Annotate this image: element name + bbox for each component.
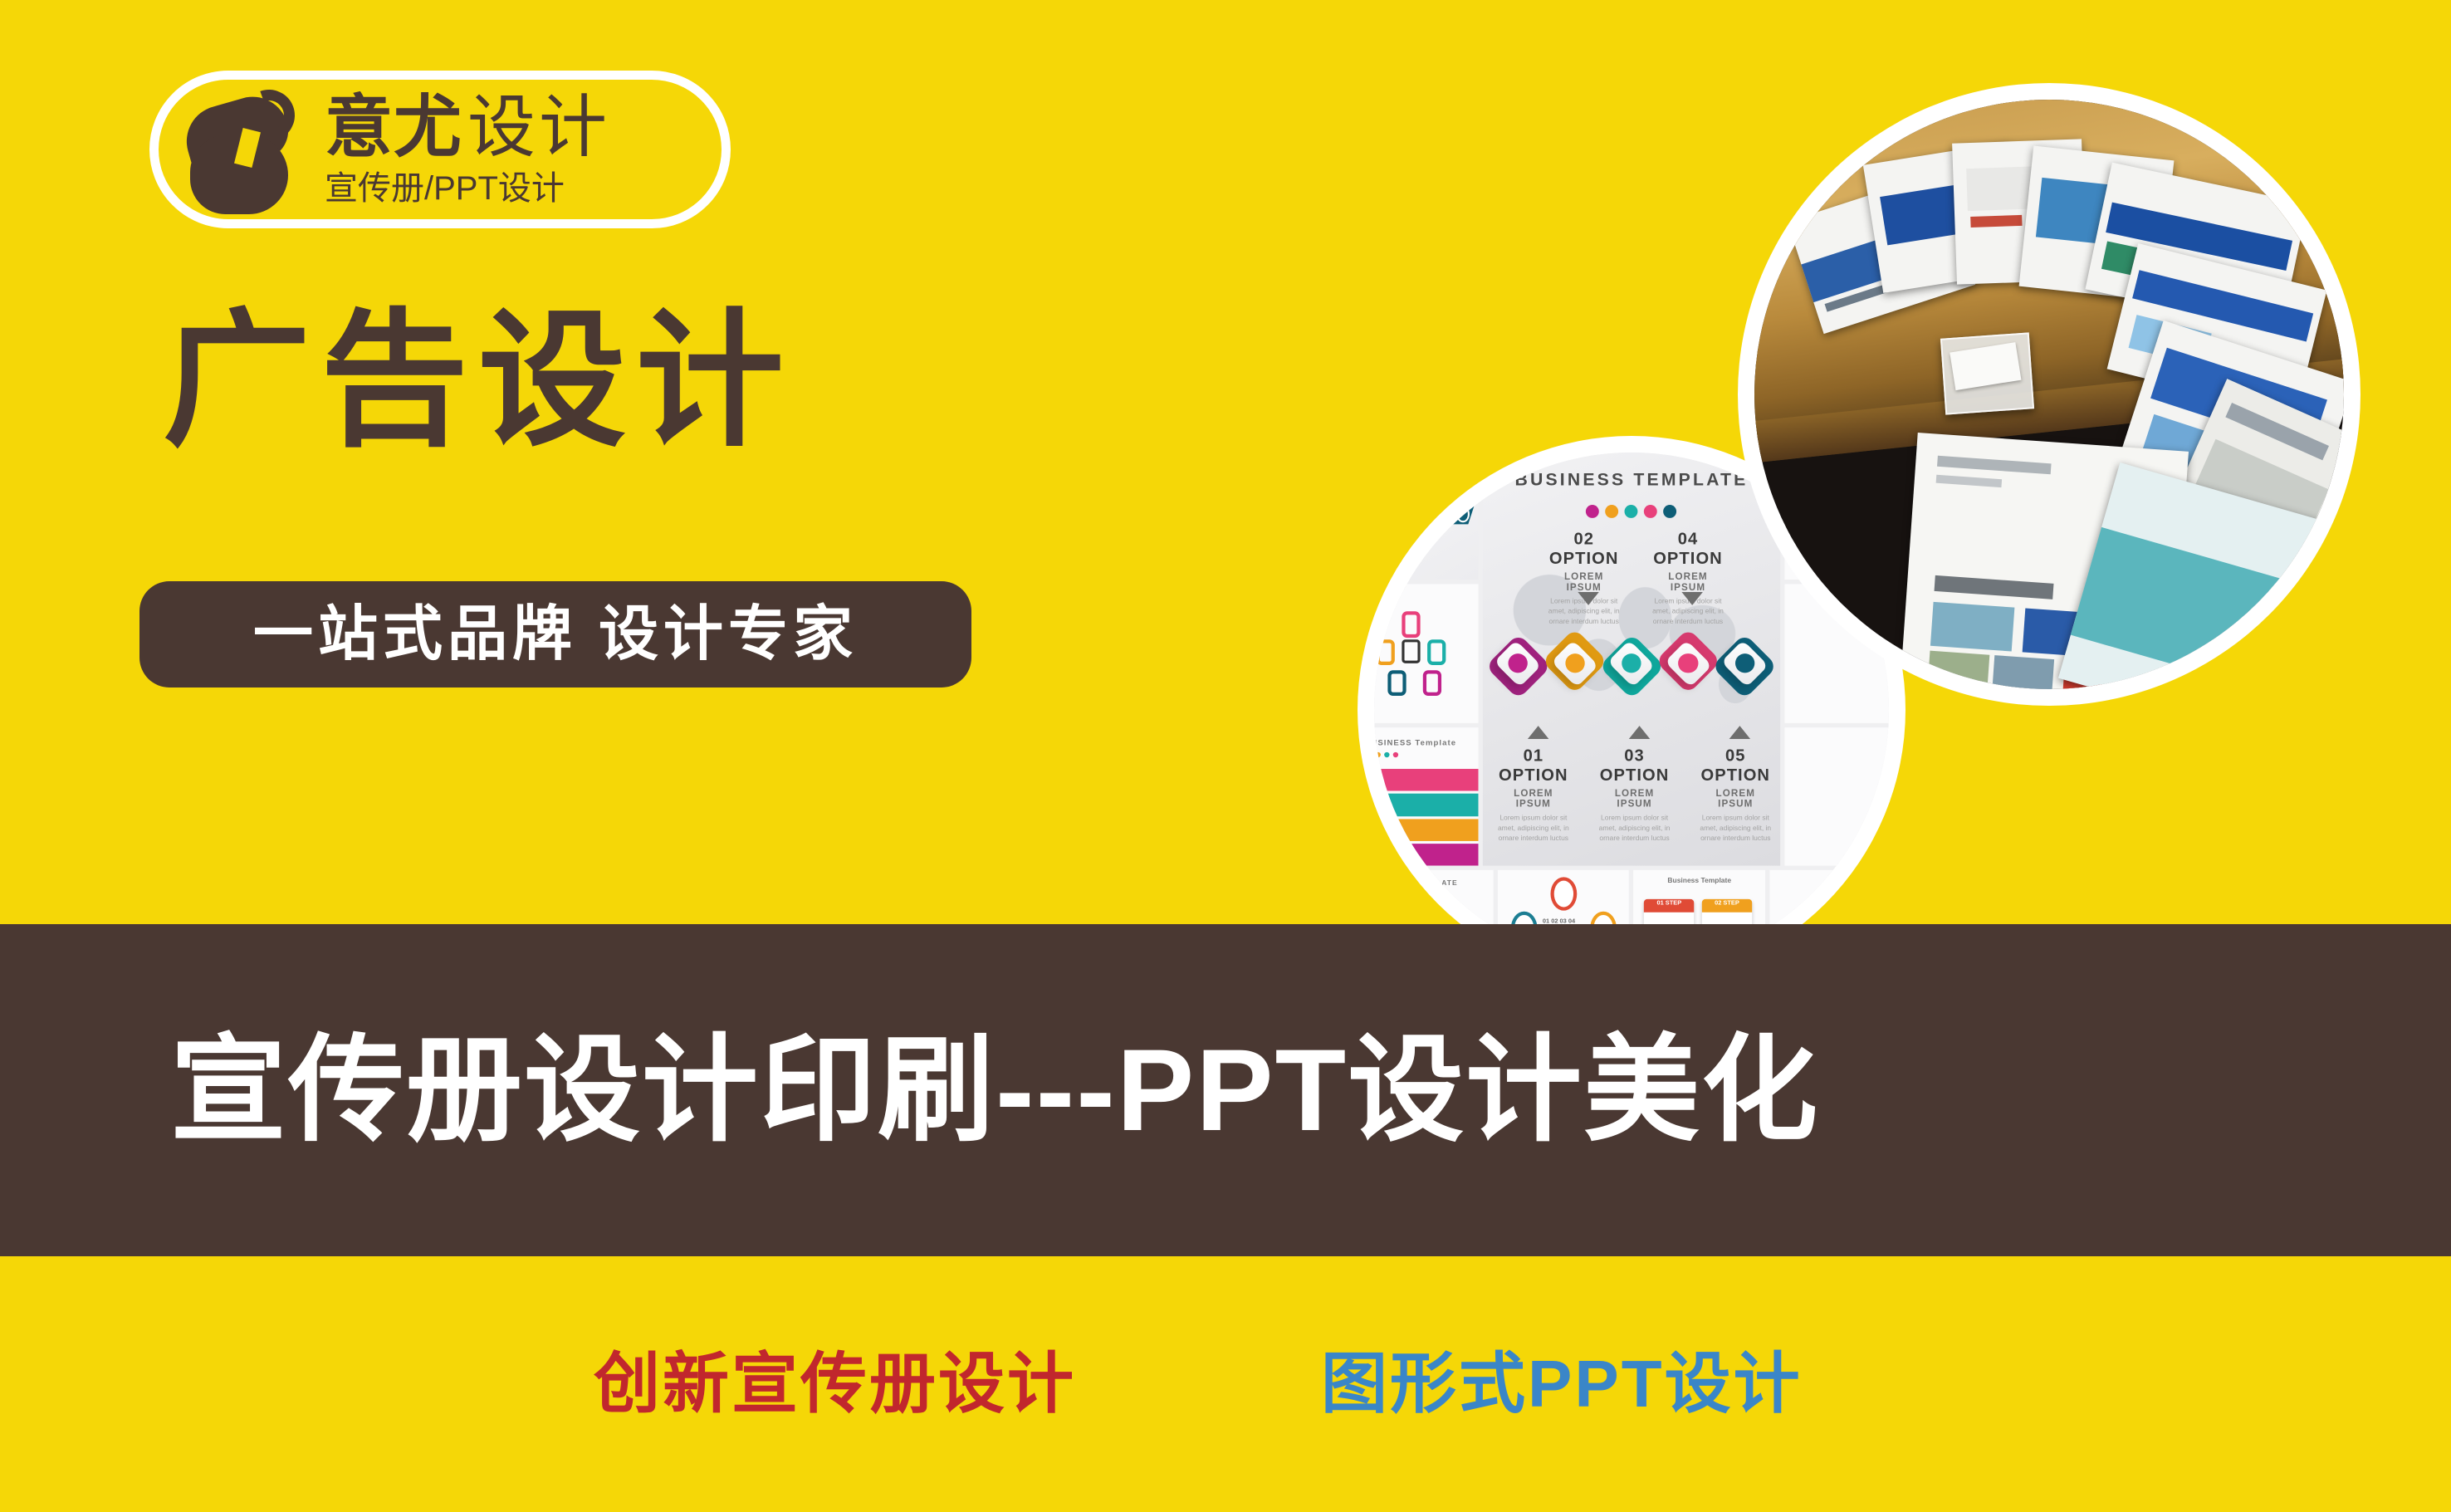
tpl-heading: BUSINESS TEMPLATE <box>1483 470 1780 490</box>
tpl-option-label: 05 OPTION LOREM IPSUM Lorem ipsum dolor … <box>1697 747 1774 844</box>
brand-name-thin: 设计 <box>467 94 610 162</box>
tpl-option-sub: LOREM IPSUM <box>1545 571 1622 592</box>
tpl-diamond <box>1608 643 1655 689</box>
tpl-bottom-card-heading: Business <box>1859 879 1889 888</box>
mid-banner: 宣传册设计印刷---PPT设计美化 <box>0 924 2451 1256</box>
poster-canvas: 意尤 设计 宣传册/PPT设计 广告设计 一站式品牌 设计专家 <box>0 0 2451 1512</box>
tpl-step-label: 01 STEP <box>1644 898 1694 912</box>
tpl-diamond <box>1552 643 1598 689</box>
tpl-side-card <box>1784 727 1889 866</box>
tpl-option-title: 05 OPTION <box>1697 747 1774 786</box>
seed-sprout-logo-icon <box>179 83 303 216</box>
tpl-diamond-row <box>1495 611 1768 722</box>
tpl-header-dots <box>1483 505 1780 518</box>
brand-name-bold: 意尤 <box>325 94 462 162</box>
brochure-photo-image <box>1754 100 2344 689</box>
tpl-diamond <box>1495 643 1541 689</box>
tpl-option-title: 01 OPTION <box>1495 747 1572 786</box>
tpl-bottom-card-heading: BUSINESS TEMPLATE <box>1374 879 1458 888</box>
tpl-option-sub: LOREM IPSUM <box>1596 788 1673 809</box>
tpl-main-card: BUSINESS TEMPLATE 02 OPTION LOREM IPSUM … <box>1483 453 1780 866</box>
page-title: 广告设计 <box>163 307 794 455</box>
footer-item-brochure: 创新宣传册设计 <box>594 1351 1076 1417</box>
tpl-option-title: 02 OPTION <box>1545 530 1622 569</box>
tpl-option-sub: LOREM IPSUM <box>1697 788 1774 809</box>
mid-banner-text: 宣传册设计印刷---PPT设计美化 <box>170 1032 1819 1148</box>
tpl-option-sub: LOREM IPSUM <box>1495 788 1572 809</box>
tpl-diamond <box>1665 643 1711 689</box>
tpl-option-body: Lorem ipsum dolor sit amet, adipiscing e… <box>1697 813 1774 844</box>
tpl-bottom-card-label: 04 OPTION <box>1399 910 1436 918</box>
logo-badge: 意尤 设计 宣传册/PPT设计 <box>149 71 731 228</box>
tpl-option-body: Lorem ipsum dolor sit amet, adipiscing e… <box>1596 813 1673 844</box>
subtitle-label: 一站式品牌 设计专家 <box>253 604 858 664</box>
logo-tagline: 宣传册/PPT设计 <box>325 172 610 205</box>
tpl-option-body: Lorem ipsum dolor sit amet, adipiscing e… <box>1495 813 1572 844</box>
tpl-step-label: 02 STEP <box>1702 898 1752 912</box>
business-card-holder <box>1940 332 2034 415</box>
tpl-side-card: BUSINESS Template <box>1374 727 1479 866</box>
footer-bar: 创新宣传册设计 图形式PPT设计 <box>0 1256 2451 1512</box>
brand-name: 意尤 设计 <box>325 94 610 162</box>
footer-item-ppt: 图形式PPT设计 <box>1321 1351 1803 1417</box>
tpl-option-sub: LOREM IPSUM <box>1649 571 1726 592</box>
tpl-side-card <box>1374 584 1479 722</box>
tpl-option-title: 04 OPTION <box>1649 530 1726 569</box>
tpl-bottom-card-heading: Business Template <box>1634 876 1765 884</box>
tpl-option-title: 03 OPTION <box>1596 747 1673 786</box>
tpl-option-label: 01 OPTION LOREM IPSUM Lorem ipsum dolor … <box>1495 747 1572 844</box>
brochure-photo-circle <box>1738 83 2360 706</box>
subtitle-badge: 一站式品牌 设计专家 <box>139 581 971 687</box>
tpl-option-label: 03 OPTION LOREM IPSUM Lorem ipsum dolor … <box>1596 747 1673 844</box>
tpl-side-card <box>1374 453 1479 580</box>
logo-text-block: 意尤 设计 宣传册/PPT设计 <box>325 94 610 205</box>
